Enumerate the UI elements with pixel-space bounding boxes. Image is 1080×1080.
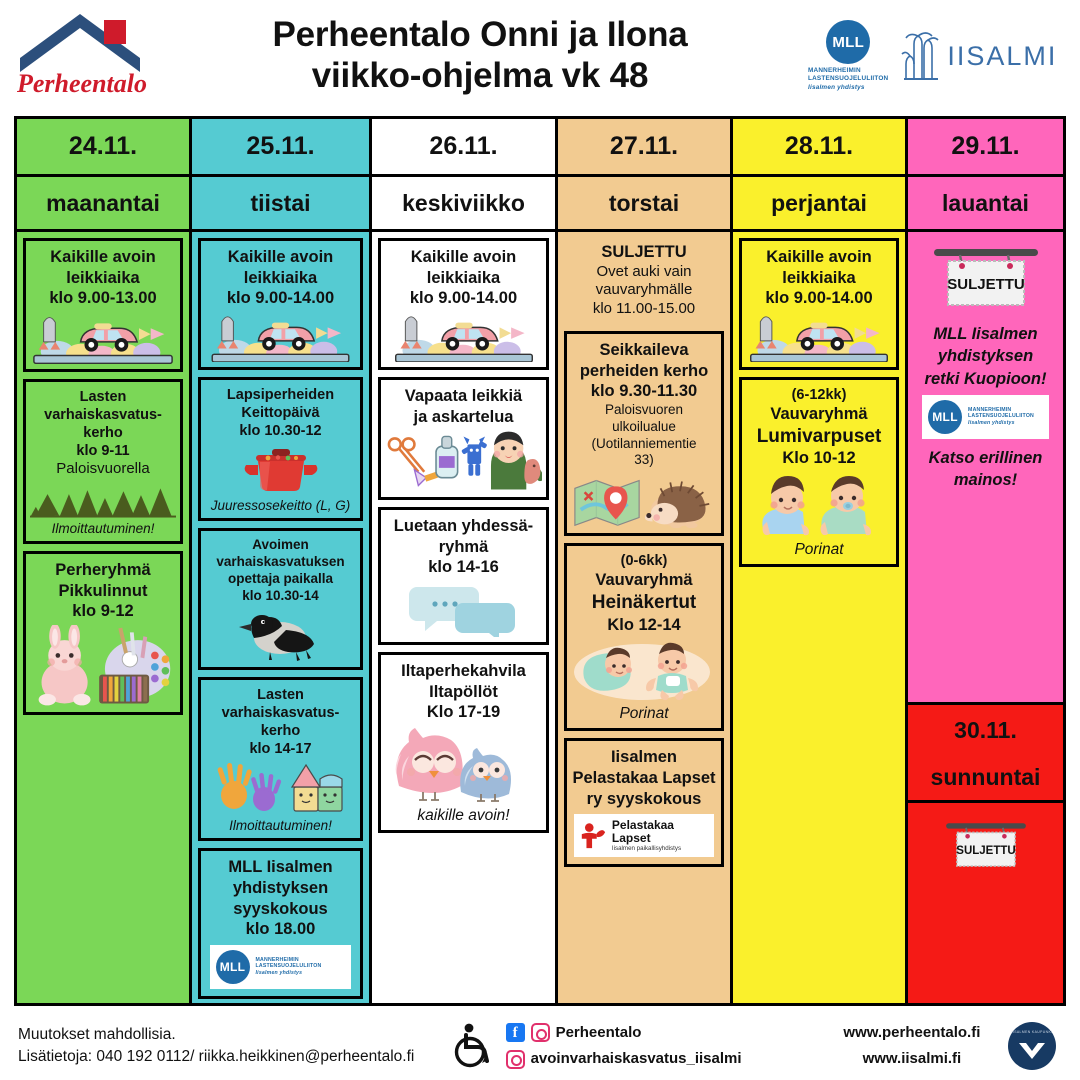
- event-time: klo 9-11: [30, 442, 176, 460]
- event-card[interactable]: Avoimenvarhaiskasvatuksenopettaja paikal…: [198, 528, 363, 670]
- day-name-sunday: sunnuntai: [908, 755, 1063, 803]
- day-name-monday: maanantai: [17, 177, 189, 232]
- toybox-icon: [205, 312, 356, 362]
- mll-circle-mark: MLL: [216, 950, 250, 984]
- event-title: PerheryhmäPikkulinnut: [30, 560, 176, 601]
- pl-subtitle: Iisalmen paikallisyhdistys: [612, 846, 709, 853]
- sunday-body: SULJETTU: [908, 803, 1063, 1003]
- mll-subtitle: MANNERHEIMIN LASTENSUOJELULIITON Iisalme…: [256, 957, 322, 977]
- event-time: Klo 17-19: [385, 702, 542, 723]
- day-body-monday: Kaikille avoinleikkiaika klo 9.00-13.00: [17, 232, 189, 1003]
- event-title: Luetaan yhdessä-ryhmä: [385, 516, 542, 557]
- mll-logo-inline: MLL MANNERHEIMIN LASTENSUOJELULIITON Iis…: [922, 395, 1049, 439]
- day-name-saturday: lauantai: [908, 177, 1063, 232]
- closed-detail: Ovet auki vainvauvaryhmälleklo 11.00-15.…: [568, 263, 720, 319]
- iisalmi-tower-icon: [900, 30, 942, 82]
- event-title: IisalmenPelastakaa Lapsetry syyskokous: [571, 747, 717, 809]
- event-card[interactable]: SULJETTU MLL Iisalmenyhdistyksenretki Ku…: [914, 238, 1057, 496]
- day-date-saturday: 29.11.: [908, 119, 1063, 177]
- poster-title: Perheentalo Onni ja Ilona viikko-ohjelma…: [158, 15, 802, 96]
- instagram-icon[interactable]: [531, 1023, 550, 1042]
- pelastakaa-lapset-text: Pelastakaa Lapset Iisalmen paikallisyhdi…: [612, 819, 709, 852]
- social-handle-2: avoinvarhaiskasvatus_iisalmi: [531, 1046, 742, 1072]
- forest-icon: [30, 482, 176, 518]
- event-time: Klo 10-12: [746, 448, 892, 469]
- event-place: Paloisvuorenulkoilualue(Uotilanniementie…: [571, 402, 717, 470]
- iisalmi-seal-icon: IISALMEN KAUPUNKI: [1003, 1021, 1062, 1071]
- event-title: Lastenvarhaiskasvatus-kerho: [205, 686, 356, 740]
- event-card[interactable]: Kaikille avoinleikkiaika klo 9.00-14.00: [739, 238, 899, 370]
- website-1[interactable]: www.perheentalo.fi: [821, 1020, 1003, 1046]
- event-title: Kaikille avoinleikkiaika: [205, 247, 356, 288]
- footer-note-line2: Lisätietoja: 040 192 0112/ riikka.heikki…: [18, 1046, 439, 1068]
- event-card[interactable]: (0-6kk) Vauvaryhmä Heinäkertut Klo 12-14: [564, 543, 724, 731]
- event-time: klo 9-12: [30, 601, 176, 622]
- event-card[interactable]: Lastenvarhaiskasvatus-kerho klo 14-17: [198, 677, 363, 842]
- event-note: Ilmoittautuminen!: [205, 818, 356, 833]
- day-column-monday: 24.11. maanantai Kaikille avoinleikkiaik…: [17, 119, 192, 1003]
- owls-icon: [385, 726, 542, 804]
- event-card[interactable]: Seikkailevaperheiden kerho klo 9.30-11.3…: [564, 331, 724, 536]
- event-title: MLL Iisalmenyhdistyksensyyskokous: [205, 857, 356, 919]
- mll-subtitle-line1: MANNERHEIMIN: [968, 407, 1034, 414]
- partner-logos: MLL MANNERHEIMIN LASTENSUOJELULIITON Iis…: [802, 20, 1072, 92]
- mll-circle-mark: MLL: [826, 20, 870, 64]
- mll-subtitle-line2: LASTENSUOJELULIITON: [968, 413, 1034, 420]
- day-date-tuesday: 25.11.: [192, 119, 369, 177]
- sunday-block: 30.11. sunnuntai SULJETTU: [908, 702, 1063, 1003]
- event-title: Vapaata leikkiäja askartelua: [385, 386, 542, 427]
- day-date-sunday: 30.11.: [908, 705, 1063, 755]
- iisalmi-logo: IISALMI: [900, 30, 1057, 82]
- event-group-name: Heinäkertut: [571, 591, 717, 615]
- event-note: Porinat: [746, 541, 892, 559]
- perheentalo-wordmark: Perheentalo: [16, 69, 147, 98]
- day-name-wednesday: keskiviikko: [372, 177, 555, 232]
- babies-icon: [571, 638, 717, 702]
- crow-icon: [205, 608, 356, 662]
- map-hedgehog-icon: [571, 472, 717, 528]
- event-title: IltaperhekahvilaIltapöllöt: [385, 661, 542, 702]
- bunny-paints-icon: [30, 625, 176, 707]
- day-date-thursday: 27.11.: [558, 119, 730, 177]
- title-line-2: viikko-ohjelma vk 48: [158, 56, 802, 97]
- event-card[interactable]: Kaikille avoinleikkiaika klo 9.00-13.00: [23, 238, 183, 372]
- mll-circle-mark: MLL: [928, 400, 962, 434]
- mll-subtitle-line1: MANNERHEIMIN: [808, 67, 888, 75]
- pelastakaa-lapset-icon: [579, 821, 607, 851]
- toybox-icon: [746, 312, 892, 362]
- social-row-facebook[interactable]: f Perheentalo: [506, 1020, 822, 1046]
- event-time: klo 14-17: [205, 740, 356, 758]
- title-line-1: Perheentalo Onni ja Ilona: [158, 15, 802, 56]
- event-title: LapsiperheidenKeittopäivä: [205, 386, 356, 422]
- hands-blocks-icon: [205, 761, 356, 815]
- event-time: klo 14-16: [385, 557, 542, 578]
- poster-header: Perheentalo Perheentalo Onni ja Ilona vi…: [0, 0, 1080, 112]
- soup-pot-icon: [205, 443, 356, 495]
- instagram-icon[interactable]: [506, 1050, 525, 1069]
- event-title: Kaikille avoinleikkiaika: [385, 247, 542, 288]
- day-column-thursday: 27.11. torstai SULJETTU Ovet auki vainva…: [558, 119, 733, 1003]
- event-title: Vauvaryhmä: [571, 570, 717, 591]
- mll-subtitle-line3: Iisalmen yhdistys: [256, 970, 303, 976]
- social-row-instagram[interactable]: avoinvarhaiskasvatus_iisalmi: [506, 1046, 822, 1072]
- event-title: Lastenvarhaiskasvatus-kerho: [30, 388, 176, 442]
- speech-bubbles-icon: [385, 581, 542, 637]
- mll-subtitle: MANNERHEIMIN LASTENSUOJELULIITON Iisalme…: [808, 67, 888, 92]
- day-body-tuesday: Kaikille avoinleikkiaika klo 9.00-14.00: [192, 232, 369, 1003]
- day-date-monday: 24.11.: [17, 119, 189, 177]
- schedule-grid: 24.11. maanantai Kaikille avoinleikkiaik…: [14, 116, 1066, 1006]
- day-date-wednesday: 26.11.: [372, 119, 555, 177]
- toybox-icon: [385, 312, 542, 362]
- mll-subtitle: MANNERHEIMIN LASTENSUOJELULIITON Iisalme…: [968, 407, 1034, 427]
- day-column-friday: 28.11. perjantai Kaikille avoinleikkiaik…: [733, 119, 908, 1003]
- perheentalo-logo: Perheentalo: [8, 10, 158, 102]
- closed-sign-text: SULJETTU: [956, 845, 1015, 857]
- facebook-icon[interactable]: f: [506, 1023, 525, 1042]
- event-time: klo 9.30-11.30: [571, 381, 717, 402]
- event-time: klo 10.30-12: [205, 422, 356, 440]
- event-card[interactable]: Kaikille avoinleikkiaika klo 9.00-14.00: [198, 238, 363, 370]
- event-card[interactable]: Luetaan yhdessä-ryhmä klo 14-16: [378, 507, 549, 645]
- mll-subtitle-line2: LASTENSUOJELULIITON: [256, 963, 322, 970]
- closed-sign-text: SULJETTU: [947, 276, 1025, 293]
- event-card[interactable]: Kaikille avoinleikkiaika klo 9.00-14.00: [378, 238, 549, 370]
- day-column-tuesday: 25.11. tiistai Kaikille avoinleikkiaika …: [192, 119, 372, 1003]
- event-title: Avoimenvarhaiskasvatuksenopettaja paikal…: [205, 537, 356, 588]
- event-card[interactable]: Lastenvarhaiskasvatus-kerho klo 9-11 Pal…: [23, 379, 183, 544]
- event-note: Katso erillinenmainos!: [918, 447, 1053, 492]
- event-age: (0-6kk): [571, 552, 717, 570]
- event-title: Seikkailevaperheiden kerho: [571, 340, 717, 381]
- day-body-thursday: SULJETTU Ovet auki vainvauvaryhmälleklo …: [558, 232, 730, 1003]
- event-title: Kaikille avoinleikkiaika: [30, 247, 176, 288]
- accessibility-icon: [439, 1023, 506, 1069]
- event-card[interactable]: MLL Iisalmenyhdistyksensyyskokous klo 18…: [198, 848, 363, 999]
- event-card[interactable]: IisalmenPelastakaa Lapsetry syyskokous P…: [564, 738, 724, 867]
- event-title: Vauvaryhmä: [746, 404, 892, 425]
- babies-icon: [746, 472, 892, 538]
- footer-websites: www.perheentalo.fi www.iisalmi.fi: [821, 1020, 1003, 1073]
- footer-social: f Perheentalo avoinvarhaiskasvatus_iisal…: [506, 1020, 822, 1073]
- svg-text:IISALMEN KAUPUNKI: IISALMEN KAUPUNKI: [1012, 1030, 1053, 1034]
- mll-subtitle-line3: Iisalmen yhdistys: [968, 420, 1015, 426]
- day-name-thursday: torstai: [558, 177, 730, 232]
- social-handle-1: Perheentalo: [556, 1020, 642, 1046]
- closed-label: SULJETTU: [568, 242, 720, 263]
- iisalmi-wordmark: IISALMI: [947, 41, 1057, 72]
- day-date-friday: 28.11.: [733, 119, 905, 177]
- day-body-wednesday: Kaikille avoinleikkiaika klo 9.00-14.00: [372, 232, 555, 1003]
- event-card[interactable]: Vapaata leikkiäja askartelua: [378, 377, 549, 500]
- footer-note: Muutokset mahdollisia. Lisätietoja: 040 …: [18, 1024, 439, 1069]
- event-time: klo 9.00-14.00: [205, 288, 356, 309]
- day-body-friday: Kaikille avoinleikkiaika klo 9.00-14.00: [733, 232, 905, 1003]
- pelastakaa-lapset-logo: Pelastakaa Lapset Iisalmen paikallisyhdi…: [574, 814, 714, 857]
- event-title: MLL Iisalmenyhdistyksenretki Kuopioon!: [918, 323, 1053, 390]
- event-age: (6-12kk): [746, 386, 892, 404]
- mll-logo-inline: MLL MANNERHEIMIN LASTENSUOJELULIITON Iis…: [210, 945, 352, 989]
- event-time: klo 9.00-14.00: [385, 288, 542, 309]
- event-card[interactable]: (6-12kk) Vauvaryhmä Lumivarpuset Klo 10-…: [739, 377, 899, 567]
- website-2[interactable]: www.iisalmi.fi: [821, 1046, 1003, 1072]
- day-column-wednesday: 26.11. keskiviikko Kaikille avoinleikkia…: [372, 119, 558, 1003]
- event-note: Juuressosekeitto (L, G): [205, 498, 356, 513]
- event-note: kaikille avoin!: [385, 807, 542, 825]
- mll-subtitle-line2: LASTENSUOJELULIITON: [808, 75, 888, 83]
- mll-logo: MLL MANNERHEIMIN LASTENSUOJELULIITON Iis…: [808, 20, 888, 92]
- event-time: klo 9.00-14.00: [746, 288, 892, 309]
- event-group-name: Lumivarpuset: [746, 425, 892, 449]
- footer-note-line1: Muutokset mahdollisia.: [18, 1024, 439, 1046]
- day-name-friday: perjantai: [733, 177, 905, 232]
- event-note: Porinat: [571, 705, 717, 723]
- event-time: klo 10.30-14: [205, 588, 356, 605]
- weekly-schedule-poster: Perheentalo Perheentalo Onni ja Ilona vi…: [0, 0, 1080, 1080]
- event-time: klo 18.00: [205, 919, 356, 940]
- event-time: klo 9.00-13.00: [30, 288, 176, 309]
- event-card[interactable]: PerheryhmäPikkulinnut klo 9-12: [23, 551, 183, 715]
- day-column-saturday: 29.11. lauantai SULJETTU MLL Iisalmenyhd…: [908, 119, 1063, 1003]
- mll-subtitle-line3: Iisalmen yhdistys: [808, 84, 865, 91]
- pl-title: Pelastakaa Lapset: [612, 819, 709, 845]
- craft-kid-icon: [385, 430, 542, 492]
- event-time: Klo 12-14: [571, 615, 717, 636]
- poster-footer: Muutokset mahdollisia. Lisätietoja: 040 …: [0, 1012, 1080, 1080]
- event-card[interactable]: LapsiperheidenKeittopäivä klo 10.30-12: [198, 377, 363, 521]
- closed-sign-icon: SULJETTU: [918, 245, 1053, 315]
- event-place: Paloisvuorella: [30, 460, 176, 479]
- event-card[interactable]: IltaperhekahvilaIltapöllöt Klo 17-19: [378, 652, 549, 833]
- toybox-icon: [30, 312, 176, 364]
- closed-notice: SULJETTU Ovet auki vainvauvaryhmälleklo …: [564, 238, 724, 324]
- mll-subtitle-line1: MANNERHEIMIN: [256, 957, 322, 964]
- day-column-sunday: 30.11. sunnuntai SULJETTU: [908, 702, 1063, 1003]
- event-title: Kaikille avoinleikkiaika: [746, 247, 892, 288]
- event-note: Ilmoittautuminen!: [30, 521, 176, 536]
- day-name-tuesday: tiistai: [192, 177, 369, 232]
- closed-sign-icon: SULJETTU: [940, 819, 1032, 880]
